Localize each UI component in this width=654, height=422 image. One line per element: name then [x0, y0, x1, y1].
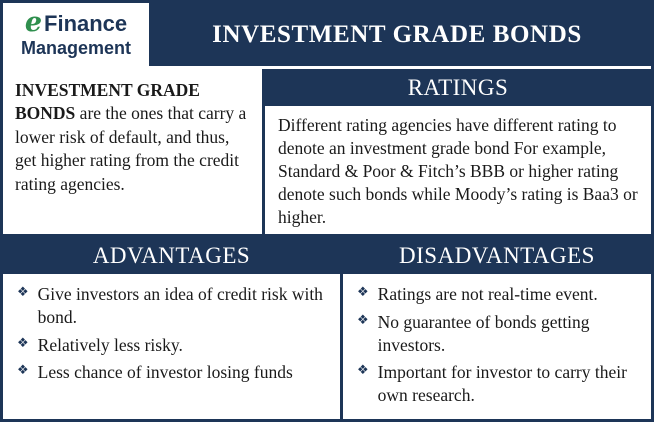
diamond-bullet-icon: ❖	[17, 334, 29, 354]
lower-section: ADVANTAGES ❖ Give investors an idea of c…	[3, 237, 651, 419]
diamond-bullet-icon: ❖	[357, 361, 369, 381]
advantages-heading: ADVANTAGES	[3, 237, 340, 274]
advantages-panel: ADVANTAGES ❖ Give investors an idea of c…	[3, 237, 343, 419]
disadvantages-panel: DISADVANTAGES ❖ Ratings are not real-tim…	[343, 237, 651, 419]
ratings-text: Different rating agencies have different…	[265, 106, 651, 229]
definition-text: INVESTMENT GRADE BONDS are the ones that…	[15, 79, 250, 196]
logo-e-icon: e	[25, 9, 42, 36]
header-bar: e Finance Management INVESTMENT GRADE BO…	[3, 3, 651, 66]
diamond-bullet-icon: ❖	[17, 361, 29, 381]
list-item-label: Less chance of investor losing funds	[38, 361, 330, 384]
ratings-heading: RATINGS	[265, 69, 651, 106]
diamond-bullet-icon: ❖	[357, 283, 369, 303]
advantages-list: ❖ Give investors an idea of credit risk …	[3, 274, 340, 389]
disadvantages-heading: DISADVANTAGES	[343, 237, 651, 274]
list-item: ❖ Ratings are not real-time event.	[357, 283, 641, 306]
logo-word-management: Management	[21, 38, 131, 59]
disadvantages-list: ❖ Ratings are not real-time event. ❖ No …	[343, 274, 651, 412]
list-item-label: No guarantee of bonds getting investors.	[378, 311, 641, 357]
list-item: ❖ Give investors an idea of credit risk …	[17, 283, 330, 329]
list-item-label: Important for investor to carry their ow…	[378, 361, 641, 407]
definition-panel: INVESTMENT GRADE BONDS are the ones that…	[3, 69, 265, 237]
diamond-bullet-icon: ❖	[17, 283, 29, 303]
list-item-label: Give investors an idea of credit risk wi…	[38, 283, 330, 329]
list-item-label: Ratings are not real-time event.	[378, 283, 641, 306]
list-item: ❖ No guarantee of bonds getting investor…	[357, 311, 641, 357]
page-title: INVESTMENT GRADE BONDS	[149, 21, 651, 49]
list-item: ❖ Relatively less risky.	[17, 334, 330, 357]
infographic-page: e Finance Management INVESTMENT GRADE BO…	[0, 0, 654, 422]
list-item: ❖ Less chance of investor losing funds	[17, 361, 330, 384]
list-item-label: Relatively less risky.	[38, 334, 330, 357]
upper-section: INVESTMENT GRADE BONDS are the ones that…	[3, 69, 651, 237]
logo: e Finance Management	[3, 3, 149, 66]
ratings-panel: RATINGS Different rating agencies have d…	[265, 69, 651, 237]
diamond-bullet-icon: ❖	[357, 311, 369, 331]
logo-word-finance: Finance	[44, 13, 127, 35]
list-item: ❖ Important for investor to carry their …	[357, 361, 641, 407]
logo-primary-row: e Finance	[25, 10, 127, 37]
